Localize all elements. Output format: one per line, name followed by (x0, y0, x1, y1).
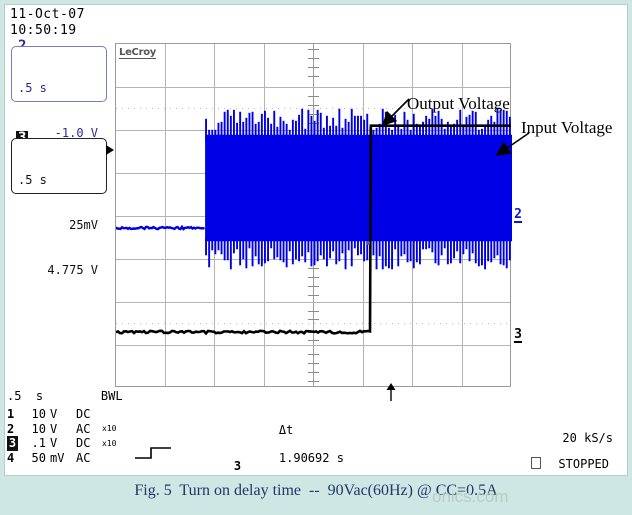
trigger-source: 3 (234, 459, 241, 473)
ch3-number: 3 (7, 436, 18, 451)
ch3-probe: x10 (102, 440, 116, 447)
ch1-unit: V (46, 407, 76, 422)
ch4-scale: 50 (18, 451, 46, 466)
cursor-marker-icon (366, 241, 370, 245)
ch1-number: 1 (7, 407, 18, 422)
channel-settings-table: 1 10 V DC 2 10 V AC x10 3 .1 V DC x10 4 … (7, 407, 116, 465)
ch4-number: 4 (7, 451, 18, 466)
ch1-coupling: DC (76, 407, 102, 422)
channel-3-value-1: 25mV (18, 218, 100, 233)
ch2-scale: 10 (18, 422, 46, 437)
date-time-readout: 11-Oct-07 10:50:19 (10, 7, 85, 39)
ch2-unit: V (46, 422, 76, 437)
channel-2-timebase: .5 s (18, 81, 100, 96)
ch2-coupling: AC (76, 422, 102, 437)
watermark-text: onics.com (432, 487, 509, 507)
oscilloscope-screen: 11-Oct-07 10:50:19 2 .5 s -1.0 V -44.8 V… (4, 4, 628, 476)
ch1-scale: 10 (18, 407, 46, 422)
ch3-scale: .1 (18, 436, 46, 451)
acquisition-status: STOPPED (558, 457, 609, 471)
edge-label-channel-3: 3 (514, 328, 522, 343)
channel-settings-row[interactable]: 3 .1 V DC x10 (7, 436, 116, 451)
channel-settings-row[interactable]: 1 10 V DC (7, 407, 116, 422)
ch2-probe: x10 (102, 425, 116, 432)
trigger-slope-icon (135, 445, 187, 461)
delta-t-label: Δt (279, 423, 293, 437)
channel-settings-row[interactable]: 4 50 mV AC (7, 451, 116, 466)
ch4-coupling: AC (76, 451, 102, 466)
timebase-readout: .5 s BWL (7, 389, 123, 403)
trigger-readout: 3 DC 4.44 V (205, 445, 277, 476)
channel-3-value-2: 4.775 V (18, 263, 100, 278)
annotation-input-voltage: Input Voltage (521, 118, 612, 138)
channel-2-descriptor-box[interactable]: .5 s -1.0 V -44.8 V (11, 46, 107, 102)
channel-settings-row[interactable]: 2 10 V AC x10 (7, 422, 116, 437)
date-text: 11-Oct-07 (10, 7, 85, 22)
edge-label-channel-2: 2 (514, 208, 522, 223)
time-text: 10:50:19 (10, 23, 77, 38)
trigger-position-arrow-icon (385, 383, 397, 401)
ch4-unit: mV (46, 451, 76, 466)
channel-3-timebase: .5 s (18, 173, 100, 188)
sample-rate-readout: 20 kS/s (562, 431, 613, 445)
channel-3-descriptor-box[interactable]: .5 s 25mV 4.775 V (11, 138, 107, 194)
annotation-output-voltage: Output Voltage (407, 94, 510, 114)
status-indicator-icon[interactable] (531, 457, 541, 469)
ch3-coupling: DC (76, 436, 102, 451)
delta-t-value: 1.90692 s (279, 451, 344, 465)
ch2-number: 2 (7, 422, 18, 437)
ch3-unit: V (46, 436, 76, 451)
figure-caption: Fig. 5 Turn on delay time -- 90Vac(60Hz)… (0, 482, 632, 500)
